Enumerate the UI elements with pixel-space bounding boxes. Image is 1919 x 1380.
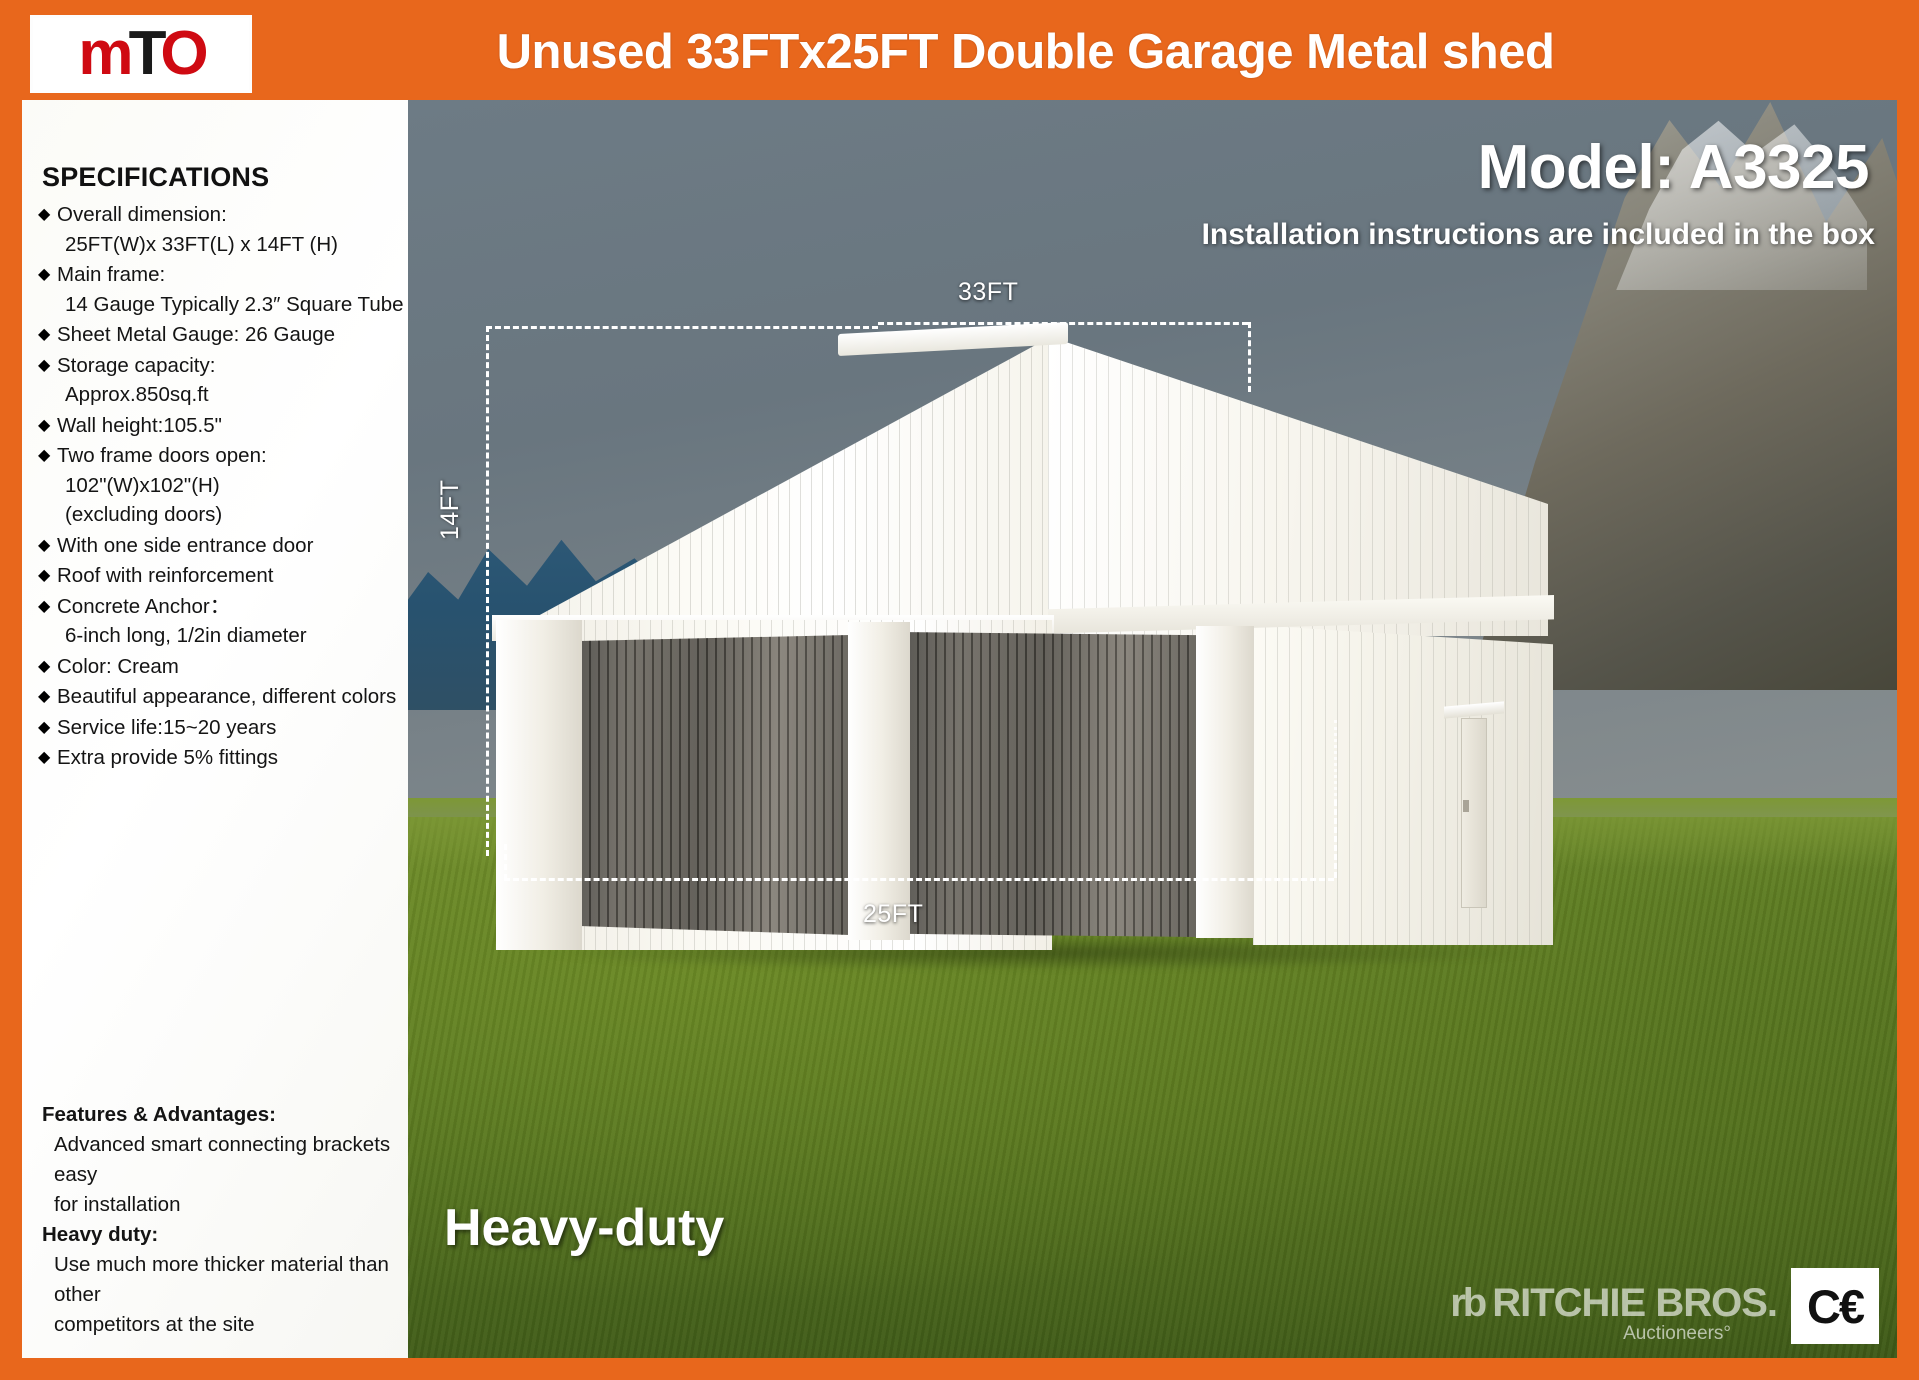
bullet-diamond-icon: ◆ [38,561,57,591]
spec-item-detail: 14 Gauge Typically 2.3″ Square Tube [65,290,408,320]
spec-item: ◆Beautiful appearance, different colors [38,682,408,712]
dimension-line-height [486,326,489,856]
spec-item-label: Storage capacity: [57,351,408,381]
dimension-line-bottom-left-tick [504,844,507,880]
spec-item: ◆Sheet Metal Gauge: 26 Gauge [38,320,408,350]
shed-corner-post-right [1196,626,1254,938]
shed-door-opening-left [580,635,850,935]
spec-item-row: ◆Concrete Anchor： [38,592,408,622]
shed-roof-right [1048,336,1548,636]
spec-item: ◆Extra provide 5% fittings [38,743,408,773]
specifications-panel: SPECIFICATIONS ◆Overall dimension:25FT(W… [22,100,408,1358]
dimension-line-top-right [878,322,1248,325]
bullet-diamond-icon: ◆ [38,441,57,471]
spec-item-row: ◆Wall height:105.5" [38,411,408,441]
product-photo: 33FT 14FT 25FT Model: A3325 Installation… [408,100,1897,1358]
spec-item-label: Overall dimension: [57,200,408,230]
bullet-diamond-icon: ◆ [38,713,57,743]
header-bar: mTO Unused 33FTx25FT Double Garage Metal… [0,0,1919,104]
specifications-heading: SPECIFICATIONS [42,162,408,193]
side-entrance-door [1461,718,1487,908]
spec-item-row: ◆Extra provide 5% fittings [38,743,408,773]
bullet-diamond-icon: ◆ [38,531,57,561]
product-spec-sheet: mTO Unused 33FTx25FT Double Garage Metal… [0,0,1919,1380]
features-heading: Features & Advantages: [42,1100,408,1130]
spec-item-label: Beautiful appearance, different colors [57,682,408,712]
spec-item: ◆With one side entrance door [38,531,408,561]
bullet-diamond-icon: ◆ [38,411,57,441]
spec-item: ◆Service life:15~20 years [38,713,408,743]
spec-item-label: Main frame: [57,260,408,290]
spec-item-detail: (excluding doors) [65,500,408,530]
spec-item-detail: Approx.850sq.ft [65,380,408,410]
spec-item-row: ◆Storage capacity: [38,351,408,381]
spec-item: ◆Storage capacity:Approx.850sq.ft [38,351,408,410]
installation-note: Installation instructions are included i… [1202,218,1875,252]
spec-item-label: Roof with reinforcement [57,561,408,591]
shed-door-opening-right [908,629,1198,937]
model-number-label: Model: A3325 [1478,132,1869,203]
spec-item-row: ◆Two frame doors open: [38,441,408,471]
brand-logo: mTO [30,15,252,93]
spec-item-label: With one side entrance door [57,531,408,561]
spec-item: ◆Overall dimension:25FT(W)x 33FT(L) x 14… [38,200,408,259]
shed-gable-front [492,336,1052,641]
spec-item-label: Wall height:105.5" [57,411,408,441]
bullet-diamond-icon: ◆ [38,682,57,712]
bullet-diamond-icon: ◆ [38,652,57,682]
logo-wordmark: mTO [78,23,203,85]
logo-letter-m: m [78,19,128,88]
shed-center-post [848,622,910,940]
spec-item-row: ◆Beautiful appearance, different colors [38,682,408,712]
specifications-list: ◆Overall dimension:25FT(W)x 33FT(L) x 14… [38,200,408,773]
spec-item-label: Two frame doors open: [57,441,408,471]
spec-item-row: ◆Overall dimension: [38,200,408,230]
heavy-duty-line-1: Use much more thicker material than othe… [54,1250,408,1310]
spec-item-row: ◆Color: Cream [38,652,408,682]
auctioneers-subtitle: Auctioneers° [1623,1324,1731,1344]
bullet-diamond-icon: ◆ [38,320,57,350]
spec-item: ◆Wall height:105.5" [38,411,408,441]
dimension-line-side-dots [1334,720,1337,802]
ritchie-bros-wordmark: rb RITCHIE BROS. [1450,1283,1777,1323]
logo-letter-t: T [129,19,161,88]
spec-item: ◆Main frame:14 Gauge Typically 2.3″ Squa… [38,260,408,319]
spec-item-label: Extra provide 5% fittings [57,743,408,773]
bullet-diamond-icon: ◆ [38,351,57,381]
page-title: Unused 33FTx25FT Double Garage Metal she… [252,24,1919,80]
heavy-duty-heading: Heavy duty: [42,1220,408,1250]
spec-item-row: ◆Main frame: [38,260,408,290]
logo-letter-o: O [160,19,203,88]
dimension-line-top-left [486,326,878,329]
spec-item-detail: 102"(W)x102"(H) [65,471,408,501]
dimension-line-right-drop [1248,322,1251,392]
spec-item-row: ◆Service life:15~20 years [38,713,408,743]
shed-corner-post-left [496,620,582,950]
spec-item-detail: 6-inch long, 1/2in diameter [65,621,408,651]
rb-monogram: rb [1450,1283,1484,1323]
ritchie-bros-name: RITCHIE BROS. [1492,1283,1777,1323]
ce-mark-icon: C€ [1791,1268,1879,1344]
bullet-diamond-icon: ◆ [38,200,57,230]
dimension-line-bottom-right-tick [1334,800,1337,878]
spec-item-label: Concrete Anchor： [57,592,408,622]
spec-item-label: Color: Cream [57,652,408,682]
features-line-2: for installation [54,1190,408,1220]
dimension-label-width: 25FT [863,900,923,929]
metal-shed-illustration [408,100,1897,1358]
dimension-label-length: 33FT [958,278,1018,307]
spec-item: ◆Color: Cream [38,652,408,682]
spec-item: ◆Roof with reinforcement [38,561,408,591]
auction-watermark: rb RITCHIE BROS. Auctioneers° C€ [1450,1268,1879,1344]
spec-item-label: Service life:15~20 years [57,713,408,743]
shed-side-wall [1253,625,1553,945]
content-area: SPECIFICATIONS ◆Overall dimension:25FT(W… [22,100,1897,1358]
spec-item-label: Sheet Metal Gauge: 26 Gauge [57,320,408,350]
heavy-duty-line-2: competitors at the site [54,1310,408,1340]
bullet-diamond-icon: ◆ [38,743,57,773]
bullet-diamond-icon: ◆ [38,592,57,622]
bullet-diamond-icon: ◆ [38,260,57,290]
heavy-duty-callout: Heavy-duty [444,1198,724,1258]
spec-item-detail: 25FT(W)x 33FT(L) x 14FT (H) [65,230,408,260]
side-door-handle [1463,800,1469,812]
spec-item-row: ◆Sheet Metal Gauge: 26 Gauge [38,320,408,350]
features-line-1: Advanced smart connecting brackets easy [54,1130,408,1190]
dimension-line-width [504,878,1334,881]
spec-item-row: ◆Roof with reinforcement [38,561,408,591]
spec-item: ◆Concrete Anchor：6-inch long, 1/2in diam… [38,592,408,651]
spec-item-row: ◆With one side entrance door [38,531,408,561]
dimension-label-height: 14FT [436,480,465,540]
spec-item: ◆Two frame doors open:102"(W)x102"(H)(ex… [38,441,408,530]
features-advantages-block: Features & Advantages: Advanced smart co… [42,1100,408,1340]
ritchie-bros-logo: rb RITCHIE BROS. Auctioneers° [1450,1283,1777,1344]
